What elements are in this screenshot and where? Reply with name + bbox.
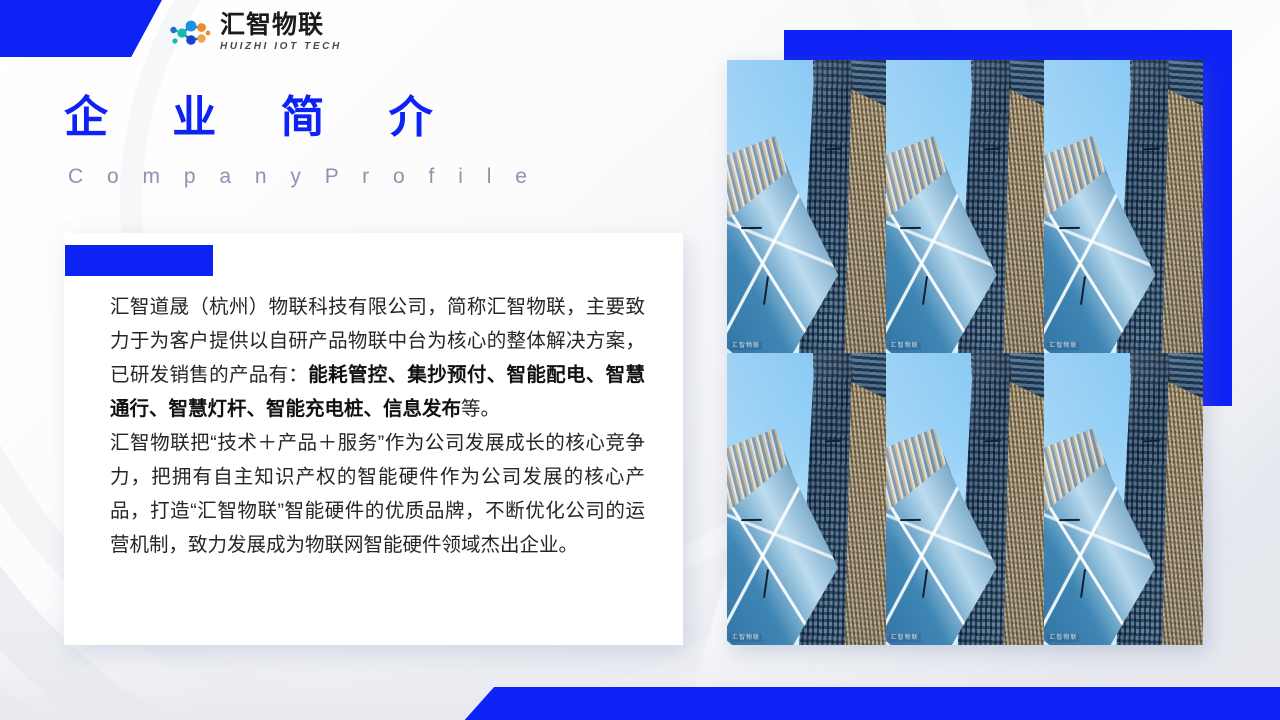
gallery-photo-6: 汇智物联 bbox=[1044, 353, 1203, 646]
antenna-1 bbox=[741, 227, 762, 229]
page-title: 企 业 简 介 bbox=[64, 96, 536, 140]
gallery-photo-3: 汇智物联 bbox=[1044, 60, 1203, 353]
paragraph-1: 汇智道晟（杭州）物联科技有限公司，简称汇智物联，主要致力于为客户提供以自研产品物… bbox=[110, 290, 645, 426]
bronze-grid-tower bbox=[1003, 89, 1044, 352]
gallery-photo-4: 汇智物联 bbox=[727, 353, 886, 646]
bronze-grid-tower bbox=[1003, 382, 1044, 645]
photo-watermark: 汇智物联 bbox=[1047, 342, 1079, 350]
accent-bar bbox=[65, 245, 213, 276]
page-subtitle: C o m p a n y P r o f i l e bbox=[68, 166, 536, 187]
photo-watermark: 汇智物联 bbox=[730, 634, 762, 642]
paragraph-1-tail: 等。 bbox=[461, 398, 500, 420]
photo-watermark: 汇智物联 bbox=[889, 634, 921, 642]
gallery-photo-5: 汇智物联 bbox=[886, 353, 1045, 646]
logo-text: 汇智物联 HUIZHI IOT TECH bbox=[220, 13, 342, 52]
antenna-1 bbox=[1059, 227, 1080, 229]
bronze-grid-tower bbox=[844, 89, 885, 352]
gallery-photo-1: 汇智物联 bbox=[727, 60, 886, 353]
paragraph-2: 汇智物联把“技术＋产品＋服务”作为公司发展成长的核心竞争力，把拥有自主知识产权的… bbox=[110, 426, 645, 562]
company-logo: 汇智物联 HUIZHI IOT TECH bbox=[168, 13, 342, 52]
photo-watermark: 汇智物联 bbox=[1047, 634, 1079, 642]
slide-company-profile: 汇智物联 HUIZHI IOT TECH 企 业 简 介 C o m p a n… bbox=[0, 0, 1280, 720]
photo-watermark: 汇智物联 bbox=[889, 342, 921, 350]
antenna-1 bbox=[900, 227, 921, 229]
logo-name-cn: 汇智物联 bbox=[220, 13, 342, 38]
bronze-grid-tower bbox=[1162, 382, 1203, 645]
bronze-grid-tower bbox=[1162, 89, 1203, 352]
profile-card: 汇智道晟（杭州）物联科技有限公司，简称汇智物联，主要致力于为客户提供以自研产品物… bbox=[64, 233, 683, 645]
page-title-group: 企 业 简 介 C o m p a n y P r o f i l e bbox=[64, 96, 536, 187]
profile-card-body: 汇智道晟（杭州）物联科技有限公司，简称汇智物联，主要致力于为客户提供以自研产品物… bbox=[110, 290, 645, 562]
gallery-grid: 汇智物联 汇智物联 汇智 bbox=[727, 60, 1203, 645]
gallery-photo-2: 汇智物联 bbox=[886, 60, 1045, 353]
molecule-network-icon bbox=[168, 16, 212, 50]
logo-name-en: HUIZHI IOT TECH bbox=[220, 42, 342, 52]
photo-watermark: 汇智物联 bbox=[730, 342, 762, 350]
bronze-grid-tower bbox=[844, 382, 885, 645]
